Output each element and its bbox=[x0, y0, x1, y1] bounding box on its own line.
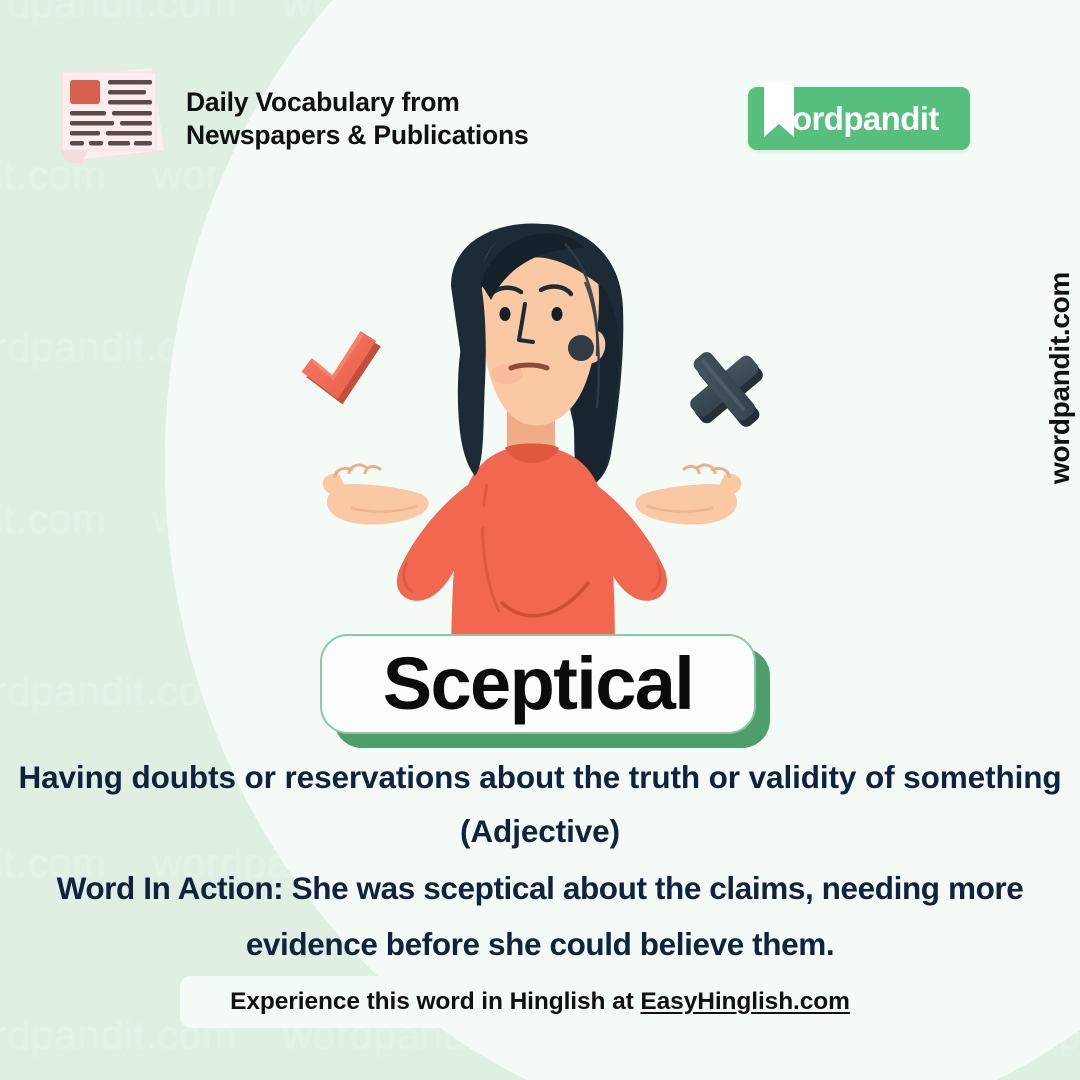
check-mark-icon bbox=[297, 329, 388, 410]
watermark-text: wordpandit.com bbox=[967, 668, 1080, 714]
watermark-text: wordpandit.com bbox=[837, 152, 1080, 198]
vertical-site-label: wordpandit.com bbox=[1044, 272, 1076, 484]
hinglish-banner[interactable]: Experience this word in Hinglish at Easy… bbox=[180, 976, 900, 1028]
watermark-text: wordpandit.com bbox=[967, 0, 1080, 26]
watermark-text: wordpandit.com bbox=[0, 324, 236, 370]
watermark-text: wordpandit.com bbox=[837, 496, 1080, 542]
newspaper-icon bbox=[52, 66, 170, 171]
left-open-palm bbox=[323, 465, 429, 524]
watermark-text: wordpandit.com bbox=[837, 496, 1080, 542]
example-text: Word In Action: She was sceptical about … bbox=[0, 860, 1080, 972]
header-title: Daily Vocabulary from Newspapers & Publi… bbox=[186, 86, 529, 151]
watermark-text: wordpandit.com bbox=[0, 496, 106, 542]
watermark-text: wordpandit.com bbox=[495, 152, 791, 198]
easyhinglish-link[interactable]: EasyHinglish.com bbox=[640, 988, 849, 1015]
cross-mark-icon bbox=[685, 348, 767, 431]
watermark-text: wordpandit.com bbox=[495, 152, 791, 198]
watermark-text: wordpandit.com bbox=[837, 152, 1080, 198]
watermark-row: wordpandit.comwordpandit.comwordpandit.c… bbox=[0, 0, 1080, 27]
watermark-text: wordpandit.com bbox=[0, 0, 236, 26]
watermark-text: wordpandit.com bbox=[967, 0, 1080, 26]
watermark-text: wordpandit.com bbox=[967, 1012, 1080, 1058]
watermark-text: wordpandit.com bbox=[0, 668, 236, 714]
watermark-text: wordpandit.com bbox=[282, 0, 578, 26]
hinglish-banner-text: Experience this word in Hinglish at Easy… bbox=[230, 988, 850, 1016]
definition-text: Having doubts or reservations about the … bbox=[0, 750, 1080, 858]
right-open-palm bbox=[636, 465, 742, 524]
word-card: Sceptical bbox=[320, 634, 756, 734]
banner-prefix: Experience this word in Hinglish at bbox=[230, 988, 640, 1015]
watermark-text: wordpandit.com bbox=[967, 668, 1080, 714]
logo-text: ordpandit bbox=[792, 100, 939, 138]
watermark-text: wordpandit.com bbox=[625, 0, 921, 26]
watermark-text: wordpandit.com bbox=[0, 0, 236, 26]
watermark-text: wordpandit.com bbox=[967, 1012, 1080, 1058]
wordpandit-logo[interactable]: ordpandit bbox=[748, 87, 970, 150]
header: Daily Vocabulary from Newspapers & Publi… bbox=[52, 66, 529, 171]
vocabulary-card: wordpandit.comwordpandit.comwordpandit.c… bbox=[0, 0, 1080, 1080]
watermark-text: wordpandit.com bbox=[0, 668, 236, 714]
watermark-row: wordpandit.comwordpandit.comwordpandit.c… bbox=[0, 0, 1080, 27]
watermark-text: wordpandit.com bbox=[0, 496, 106, 542]
watermark-text: wordpandit.com bbox=[0, 324, 236, 370]
word-term: Sceptical bbox=[383, 647, 694, 721]
watermark-text: wordpandit.com bbox=[282, 0, 578, 26]
watermark-text: wordpandit.com bbox=[625, 0, 921, 26]
